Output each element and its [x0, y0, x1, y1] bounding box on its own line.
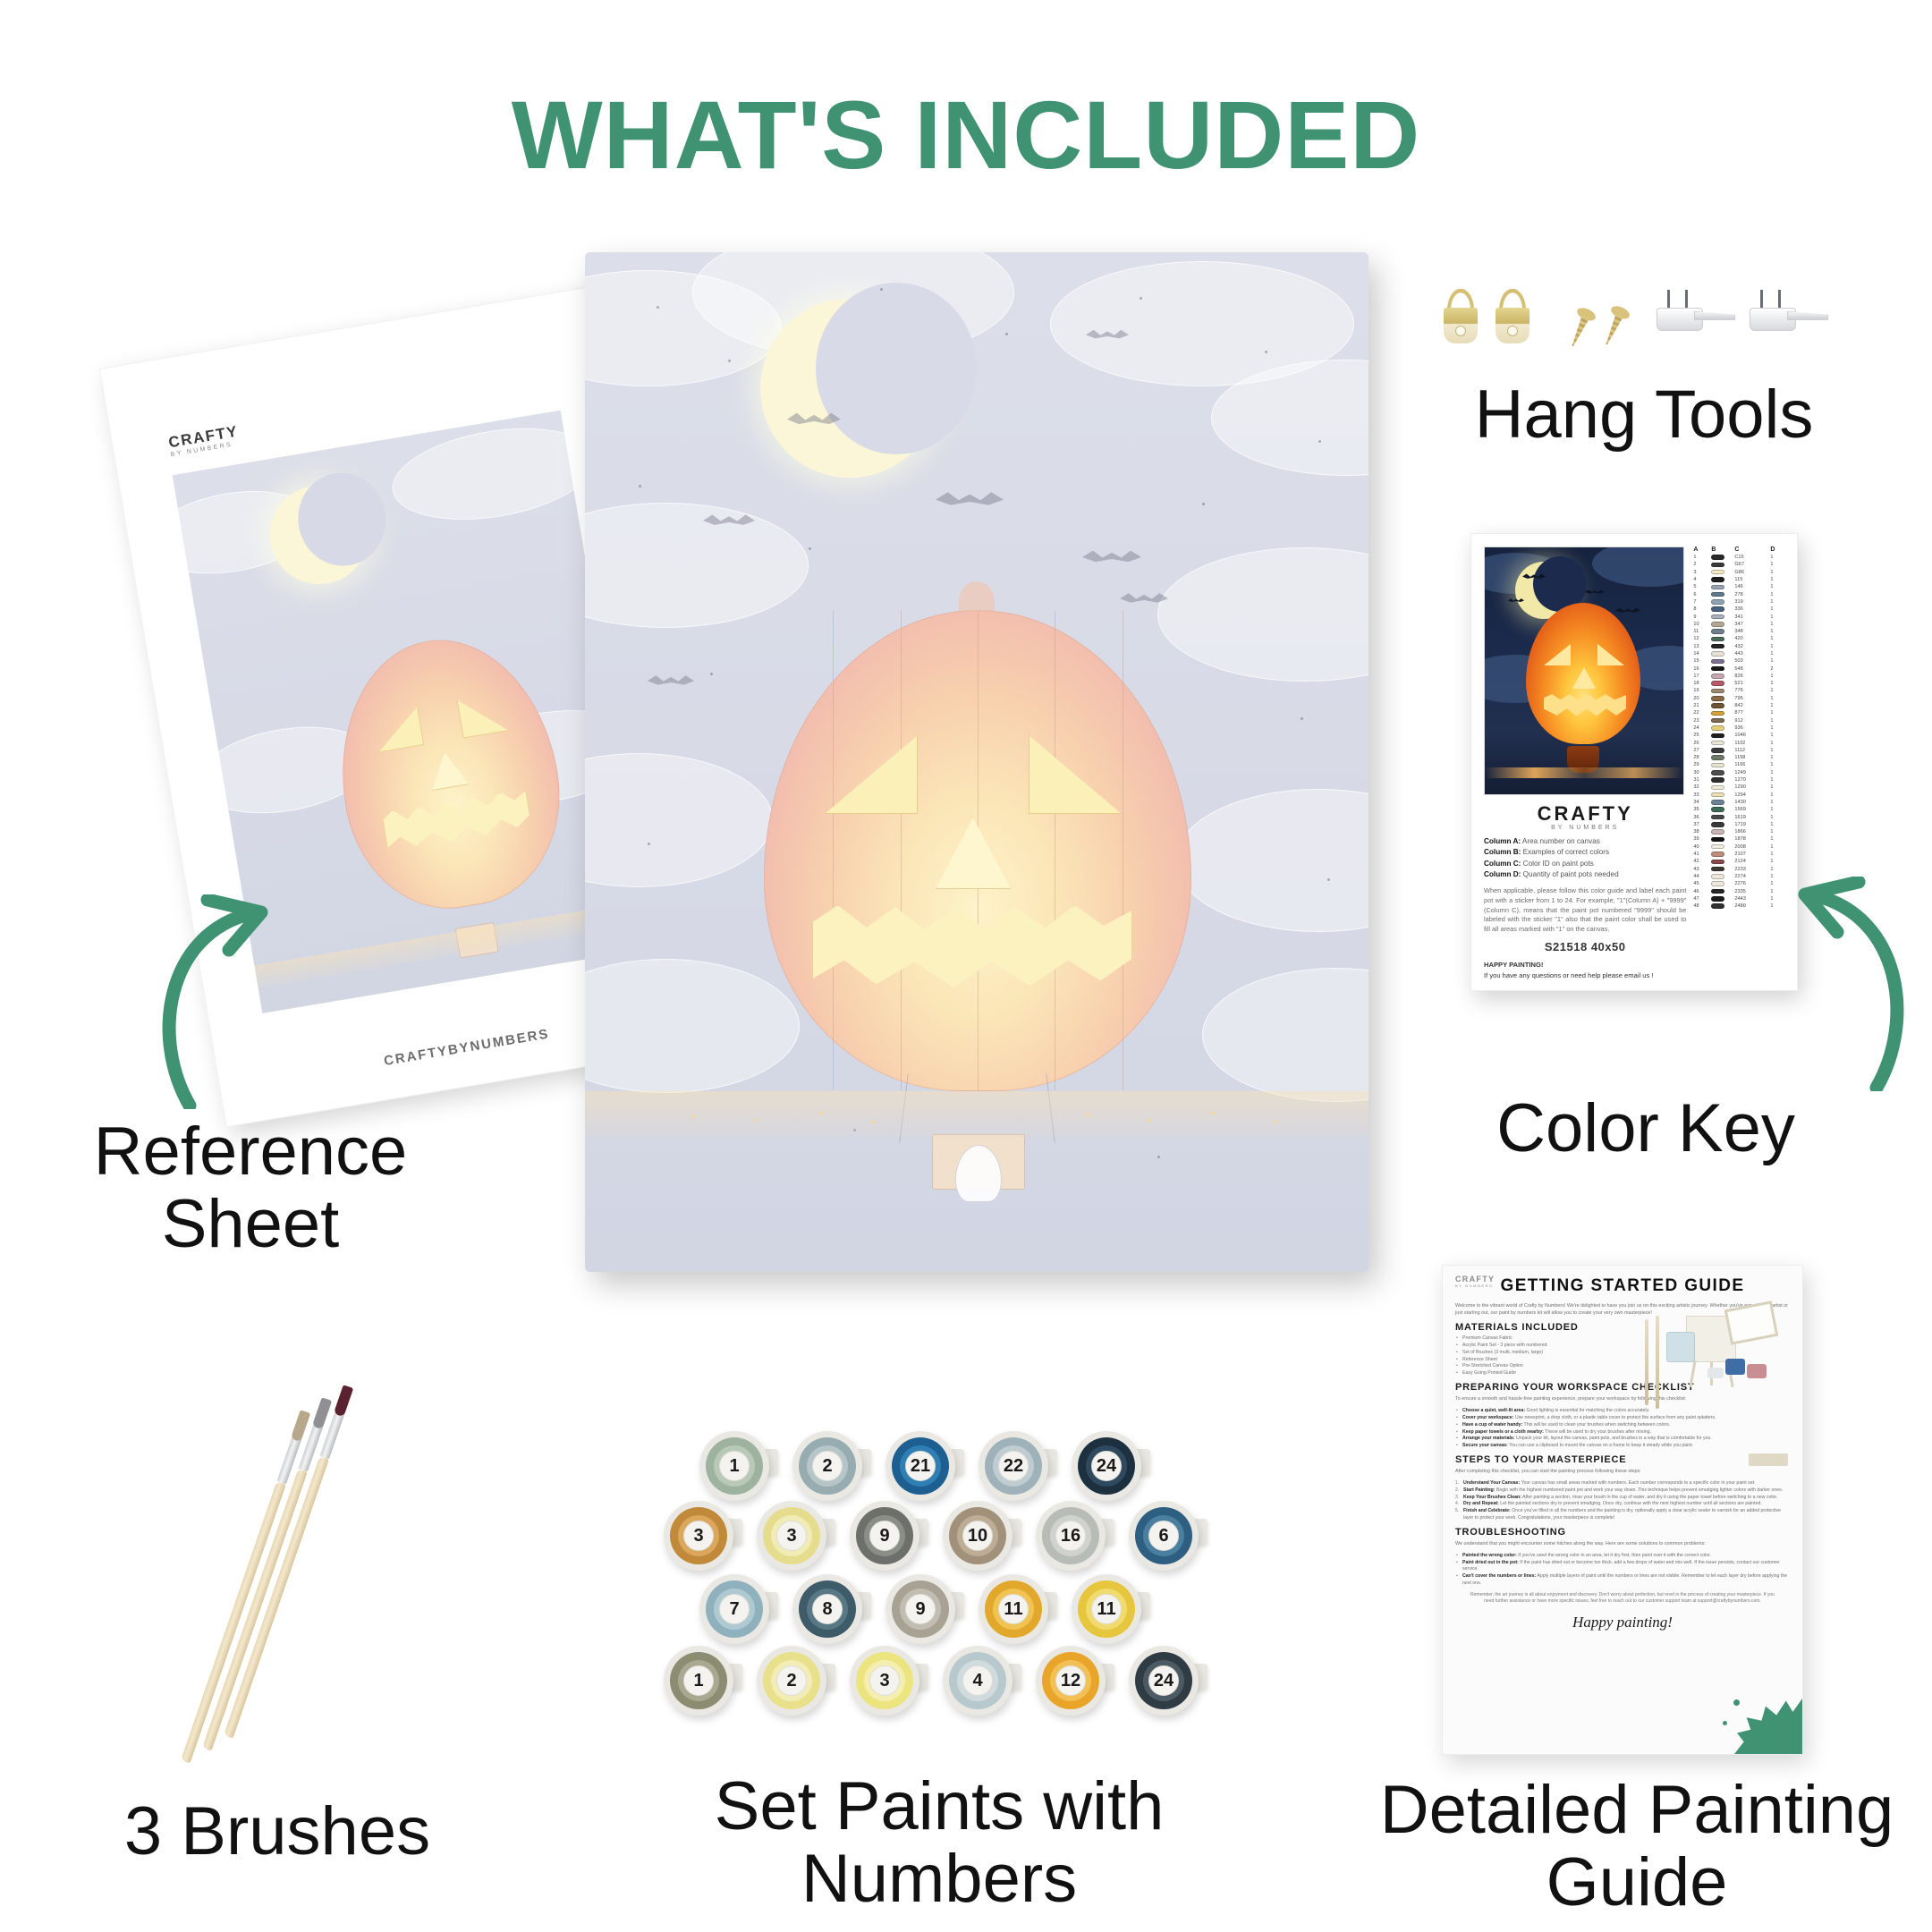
- caption-color-key: Color Key: [1395, 1093, 1896, 1165]
- guide-logo: CRAFTYBY NUMBERS: [1455, 1275, 1495, 1288]
- color-key-table-row: 218421: [1693, 702, 1786, 709]
- guide-list-item: Have a cup of water handy: This will be …: [1455, 1422, 1790, 1429]
- guide-list-item: Set of Brushes (3 multi, medium, large): [1455, 1350, 1790, 1357]
- paint-pot[interactable]: 16: [1036, 1501, 1106, 1571]
- color-key-happy-painting: HAPPY PAINTING! If you have any question…: [1484, 961, 1686, 979]
- paint-pot-body: 11: [979, 1574, 1048, 1644]
- wall-hook-icon: [1750, 286, 1826, 342]
- paint-pot-body: 6: [1129, 1501, 1199, 1571]
- guide-paint-pot-icon: [1747, 1364, 1767, 1378]
- paint-pot-number: 4: [962, 1665, 993, 1696]
- paint-pots-group: 1221222433910166789111112341224: [664, 1431, 1200, 1726]
- paint-pot-body: 9: [885, 1574, 955, 1644]
- guide-section-list: Painted the wrong color: If you've used …: [1455, 1553, 1790, 1588]
- color-key-table-row: 51461: [1693, 583, 1786, 590]
- paint-pot-number: 7: [719, 1594, 750, 1624]
- paint-pot[interactable]: 22: [979, 1431, 1048, 1501]
- paint-pot-number: 12: [1055, 1665, 1086, 1696]
- guide-section-heading: TROUBLESHOOTING: [1455, 1527, 1790, 1538]
- paint-pot-number: 8: [812, 1594, 843, 1624]
- guide-list-item: Choose a quiet, well-lit area: Good ligh…: [1455, 1408, 1790, 1415]
- curved-arrow-up-right-icon: [143, 894, 358, 1109]
- moon-icon: [760, 299, 939, 478]
- paint-pot-number: 6: [1148, 1521, 1179, 1551]
- guide-splash-dot: [1723, 1721, 1727, 1725]
- paint-pot-body: 1: [699, 1431, 769, 1501]
- color-key-table-row: 4221241: [1693, 858, 1786, 865]
- paint-pot-number: 2: [776, 1665, 807, 1696]
- paint-pot[interactable]: 1: [699, 1431, 769, 1501]
- color-key-table-header: ABCD: [1693, 547, 1786, 553]
- guide-list-item: Can't cover the numbers or lines: Apply …: [1455, 1573, 1790, 1588]
- paint-pot-number: 9: [869, 1521, 900, 1551]
- paint-pot-number: 2: [812, 1451, 843, 1481]
- paint-pot-body: 24: [1072, 1431, 1141, 1501]
- color-key-table-row: 3717191: [1693, 821, 1786, 828]
- paint-pot-number: 24: [1148, 1665, 1179, 1696]
- guide-splash-decoration: [1734, 1699, 1802, 1754]
- color-key-table-row: 185211: [1693, 680, 1786, 687]
- color-key-note: When applicable, please follow this colo…: [1484, 886, 1686, 935]
- paint-pot-number: 3: [683, 1521, 714, 1551]
- color-key-table-row: 207951: [1693, 695, 1786, 702]
- guide-section-intro: We understand that you might encounter s…: [1455, 1540, 1790, 1547]
- detailed-painting-guide: CRAFTYBY NUMBERS GETTING STARTED GUIDE W…: [1442, 1265, 1803, 1755]
- guide-outro: Remember, the art journey is all about e…: [1455, 1592, 1790, 1606]
- guide-list-item: Acrylic Paint Set - 3 piece with numbere…: [1455, 1343, 1790, 1350]
- paint-pot[interactable]: 3: [757, 1501, 826, 1571]
- paint-pot-number: 9: [905, 1594, 936, 1624]
- guide-splash-dot: [1733, 1699, 1740, 1706]
- caption-brushes: 3 Brushes: [45, 1796, 510, 1868]
- paint-pot[interactable]: 21: [885, 1431, 955, 1501]
- color-key-table-row: 2911661: [1693, 761, 1786, 768]
- color-key-table-row: 3818661: [1693, 828, 1786, 835]
- paint-pot[interactable]: 11: [979, 1574, 1048, 1644]
- guide-list-item: Arrange your materials: Unpack your kit,…: [1455, 1436, 1790, 1443]
- paint-pot[interactable]: 24: [1072, 1431, 1141, 1501]
- guide-frame-icon: [1727, 1305, 1775, 1341]
- guide-section-list: Understand Your Canvas: Your canvas has …: [1455, 1480, 1790, 1522]
- paint-pot-body: 11: [1072, 1574, 1141, 1644]
- guide-list-item: Cover your workspace: Use newsprint, a d…: [1455, 1415, 1790, 1422]
- color-key-table-row: 1C151: [1693, 554, 1786, 561]
- paint-pot-body: 4: [943, 1646, 1013, 1716]
- paint-pot[interactable]: 3: [850, 1646, 919, 1716]
- guide-brush-icon: [1656, 1316, 1661, 1409]
- d-ring-hanger-icon: [1442, 290, 1479, 345]
- guide-list-item: Start Painting: Begin with the highest n…: [1455, 1487, 1790, 1495]
- paint-pot-body: 8: [792, 1574, 862, 1644]
- paint-pot-number: 10: [962, 1521, 993, 1551]
- color-key-table-row: 4121071: [1693, 851, 1786, 858]
- guide-list-item: Finish and Celebrate: Once you've filled…: [1455, 1508, 1790, 1522]
- paint-pot-number: 16: [1055, 1521, 1086, 1551]
- paint-pot[interactable]: 2: [792, 1431, 862, 1501]
- color-key-table-row: 3112701: [1693, 776, 1786, 784]
- paint-pot-number: 11: [998, 1594, 1029, 1624]
- color-key-table-row: 113481: [1693, 628, 1786, 635]
- curved-arrow-up-left-icon: [1708, 877, 1923, 1091]
- brushes-group: [125, 1324, 447, 1744]
- paint-pot-body: 12: [1036, 1646, 1106, 1716]
- paint-pot-body: 24: [1129, 1646, 1199, 1716]
- paint-pot[interactable]: 4: [943, 1646, 1013, 1716]
- color-key-table-row: 62781: [1693, 590, 1786, 597]
- color-key-table-row: 83361: [1693, 606, 1786, 613]
- paint-pot-body: 10: [943, 1501, 1013, 1571]
- guide-title: GETTING STARTED GUIDE: [1455, 1276, 1790, 1296]
- color-key-column-line: Column C: Color ID on paint pots: [1484, 859, 1686, 869]
- screw-icon: [1567, 307, 1595, 348]
- guide-brush-icon: [1645, 1319, 1650, 1405]
- color-key-table-row: 103471: [1693, 621, 1786, 628]
- paint-pot-body: 3: [664, 1501, 733, 1571]
- color-key-table-row: 144431: [1693, 650, 1786, 657]
- guide-section-intro: To ensure a smooth and hassle-free paint…: [1455, 1395, 1790, 1402]
- color-key-table-row: 4322331: [1693, 865, 1786, 872]
- color-key-table-row: 4020081: [1693, 843, 1786, 851]
- guide-list-item: Painted the wrong color: If you've used …: [1455, 1553, 1790, 1560]
- color-key-table-row: 2711121: [1693, 747, 1786, 754]
- paint-pot-body: 3: [850, 1646, 919, 1716]
- paint-pot-body: 3: [757, 1501, 826, 1571]
- color-key-sku: S21518 40x50: [1484, 940, 1686, 953]
- color-key-table-row: 239121: [1693, 717, 1786, 724]
- caption-detailed-painting-guide: Detailed Painting Guide: [1351, 1775, 1923, 1919]
- paint-pot-body: 22: [979, 1431, 1048, 1501]
- color-key-table-row: 3212901: [1693, 784, 1786, 791]
- paint-pot-number: 1: [683, 1665, 714, 1696]
- paint-pot-number: 24: [1091, 1451, 1122, 1481]
- color-key-table-row: 2811581: [1693, 754, 1786, 761]
- guide-section-heading: PREPARING YOUR WORKSPACE CHECKLIST: [1455, 1382, 1790, 1393]
- color-key-table-row: 2G671: [1693, 561, 1786, 568]
- paint-brush-icon: [202, 1410, 318, 1748]
- paint-pot-body: 2: [792, 1431, 862, 1501]
- paint-pot[interactable]: 1: [664, 1646, 733, 1716]
- color-key-table-row: 41151: [1693, 576, 1786, 583]
- guide-list-item: Dry and Repeat: Let the painted sections…: [1455, 1501, 1790, 1508]
- color-key-table-row: 134321: [1693, 643, 1786, 650]
- color-key-column-line: Column D: Quantity of paint pots needed: [1484, 869, 1686, 880]
- wall-hook-icon: [1657, 286, 1733, 342]
- guide-paintbox-icon: [1666, 1332, 1695, 1362]
- color-key-table-row: 3515691: [1693, 806, 1786, 813]
- color-key-table-row: 3G861: [1693, 569, 1786, 576]
- paint-pot-number: 21: [905, 1451, 936, 1481]
- color-key-column-line: Column B: Examples of correct colors: [1484, 847, 1686, 858]
- color-key-table-row: 249361: [1693, 724, 1786, 732]
- paint-pot[interactable]: 24: [1129, 1646, 1199, 1716]
- color-key-column-line: Column A: Area number on canvas: [1484, 836, 1686, 847]
- paint-pot-number: 1: [719, 1451, 750, 1481]
- guide-signature: Happy painting!: [1455, 1614, 1790, 1631]
- color-key-table-row: 2510461: [1693, 732, 1786, 739]
- color-key-table-row: 178261: [1693, 673, 1786, 680]
- color-key-table-row: 73191: [1693, 598, 1786, 606]
- color-key-table-row: 2611021: [1693, 739, 1786, 746]
- color-key-table-row: 197761: [1693, 687, 1786, 694]
- paint-pot[interactable]: 7: [699, 1574, 769, 1644]
- guide-section-list: Choose a quiet, well-lit area: Good ligh…: [1455, 1408, 1790, 1450]
- reference-sheet-logo: CRAFTY BY NUMBERS: [167, 423, 241, 459]
- paint-pot-number: 11: [1091, 1594, 1122, 1624]
- paint-pot-number: 3: [776, 1521, 807, 1551]
- paint-pot[interactable]: 3: [664, 1501, 733, 1571]
- color-key-table-row: 155031: [1693, 657, 1786, 665]
- caption-hang-tools: Hang Tools: [1394, 379, 1894, 452]
- color-key-column-legend: Column A: Area number on canvasColumn B:…: [1484, 836, 1686, 880]
- color-key-table-row: 3918781: [1693, 835, 1786, 843]
- color-key-table-row: 165482: [1693, 665, 1786, 672]
- screw-icon: [1601, 305, 1629, 346]
- guide-list-item: Understand Your Canvas: Your canvas has …: [1455, 1480, 1790, 1487]
- d-ring-hanger-icon: [1494, 290, 1531, 345]
- paint-pot[interactable]: 9: [850, 1501, 919, 1571]
- paint-pot[interactable]: 12: [1036, 1646, 1106, 1716]
- canvas-preview: [585, 252, 1368, 1272]
- guide-paint-pot-icon: [1725, 1359, 1745, 1375]
- color-key-table-row: 228771: [1693, 709, 1786, 716]
- guide-list-item: Keep paper towels or a cloth nearby: The…: [1455, 1429, 1790, 1436]
- paint-pot[interactable]: 11: [1072, 1574, 1141, 1644]
- paint-pot[interactable]: 6: [1129, 1501, 1199, 1571]
- page-title: WHAT'S INCLUDED: [0, 79, 1932, 191]
- paint-pot-body: 9: [850, 1501, 919, 1571]
- guide-section-heading: STEPS TO YOUR MASTERPIECE: [1455, 1454, 1790, 1465]
- color-key-table-row: 3414301: [1693, 799, 1786, 806]
- guide-table-icon: [1749, 1453, 1788, 1466]
- canvas-artwork: [585, 252, 1368, 1272]
- color-key-brand: CRAFTY BY NUMBERS: [1484, 802, 1686, 831]
- color-key-table-row: 3312941: [1693, 792, 1786, 799]
- hang-tools-group: [1438, 268, 1850, 376]
- paint-pot-number: 3: [869, 1665, 900, 1696]
- paint-pot[interactable]: 8: [792, 1574, 862, 1644]
- caption-reference-sheet: Reference Sheet: [27, 1116, 474, 1260]
- paint-pot-body: 1: [664, 1646, 733, 1716]
- paint-pot-body: 7: [699, 1574, 769, 1644]
- paint-brush-icon: [224, 1397, 340, 1735]
- infographic-stage: WHAT'S INCLUDED CRAFTY BY NUMBERS CRAFTY…: [0, 0, 1932, 1932]
- paint-pot[interactable]: 2: [757, 1646, 826, 1716]
- guide-list-item: Paint dried out in the pot: If the paint…: [1455, 1560, 1790, 1574]
- paint-pot[interactable]: 10: [943, 1501, 1013, 1571]
- paint-pot-number: 22: [998, 1451, 1029, 1481]
- color-key-table-row: 3012491: [1693, 769, 1786, 776]
- paint-pot-body: 21: [885, 1431, 955, 1501]
- guide-section-intro: After completing this checklist, you can…: [1455, 1468, 1790, 1475]
- caption-paint-set: Set Paints with Numbers: [626, 1771, 1252, 1915]
- paint-pot[interactable]: 9: [885, 1574, 955, 1644]
- color-key-thumbnail: [1484, 547, 1684, 795]
- paint-pot-body: 16: [1036, 1501, 1106, 1571]
- guide-list-item: Keep Your Brushes Clean: After painting …: [1455, 1495, 1790, 1502]
- color-key-table-row: 93411: [1693, 613, 1786, 620]
- guide-paint-pot-icon: [1707, 1368, 1724, 1378]
- guide-list-item: Secure your canvas: You can use a clipbo…: [1455, 1443, 1790, 1450]
- color-key-table-row: 124201: [1693, 635, 1786, 642]
- paint-pot-body: 2: [757, 1646, 826, 1716]
- color-key-table-row: 3616191: [1693, 813, 1786, 820]
